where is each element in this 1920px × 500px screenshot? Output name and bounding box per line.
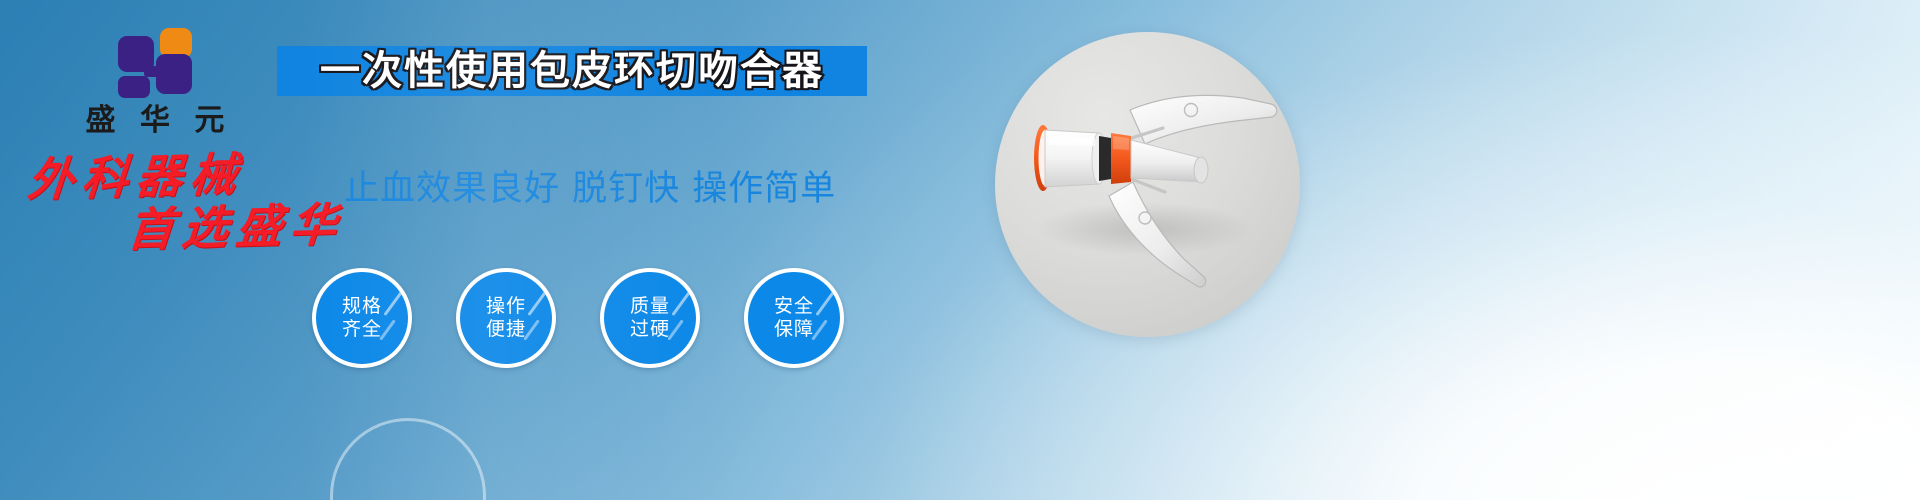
badge-label-line1: 操作 [486, 295, 526, 318]
device-upper-arm [1130, 95, 1277, 144]
badge-label-line1: 规格 [342, 295, 382, 318]
decorative-arc [330, 418, 486, 500]
headline-bar: 一次性使用包皮环切吻合器 [277, 46, 867, 96]
badge-label-line1: 安全 [774, 295, 814, 318]
promo-banner: 盛 华 元 一次性使用包皮环切吻合器 外科器械 首选盛华 止血效果良好 脱钉快 … [0, 0, 1920, 500]
feature-badge[interactable]: 质量 过硬 [600, 268, 700, 368]
company-name: 盛 华 元 [60, 104, 250, 137]
feature-badge[interactable]: 安全 保障 [744, 268, 844, 368]
badge-label-line2: 保障 [774, 318, 814, 341]
badge-label-line2: 便捷 [486, 318, 526, 341]
feature-badge[interactable]: 操作 便捷 [456, 268, 556, 368]
badge-slash-icon [383, 290, 403, 316]
device-lower-arm [1109, 182, 1206, 287]
logo-mark-icon [118, 28, 192, 98]
logo-block-bottom-left [118, 76, 150, 98]
device-nose-tip [1194, 157, 1208, 183]
slogan-line-1: 外科器械 [26, 151, 246, 203]
badge-slash-icon [815, 290, 835, 316]
slogan-line-2: 首选盛华 [126, 201, 346, 253]
device-dark-band [1099, 136, 1111, 181]
product-photo [995, 32, 1300, 337]
badge-label-line2: 齐全 [342, 318, 382, 341]
company-logo: 盛 华 元 [60, 28, 250, 137]
subtitle-text: 止血效果良好 脱钉快 操作简单 [344, 168, 836, 210]
badge-slash-icon [527, 290, 547, 316]
headline-title: 一次性使用包皮环切吻合器 [320, 51, 824, 91]
slogan-calligraphy: 外科器械 首选盛华 [20, 152, 350, 262]
badge-label-line1: 质量 [630, 295, 670, 318]
device-collar-highlight [1113, 136, 1129, 150]
feature-badge-list: 规格 齐全 操作 便捷 质量 过硬 安全 保障 [312, 268, 844, 368]
device-nose-cone [1131, 140, 1201, 182]
badge-slash-icon [671, 290, 691, 316]
feature-badge[interactable]: 规格 齐全 [312, 268, 412, 368]
badge-label-line2: 过硬 [630, 318, 670, 341]
product-illustration [995, 32, 1300, 337]
logo-connector-bar [144, 66, 166, 77]
